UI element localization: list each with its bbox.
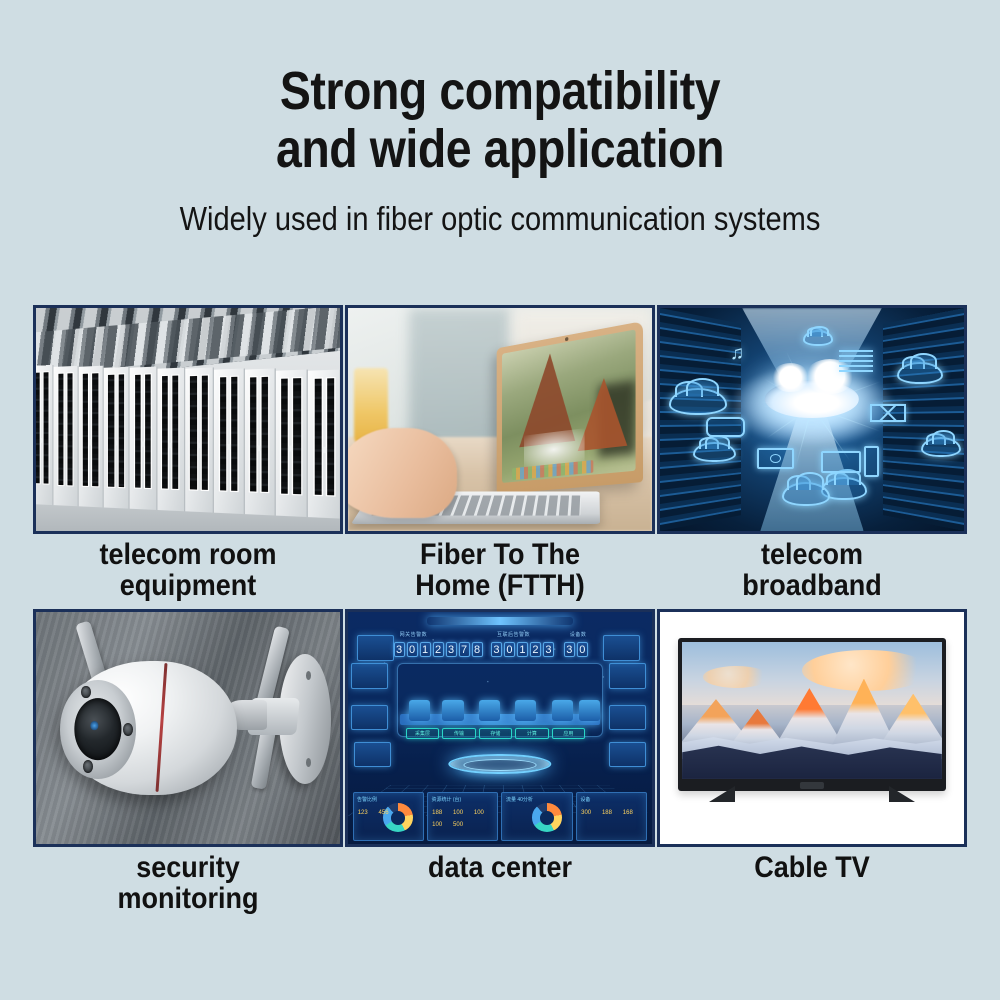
cloud-icon xyxy=(669,388,727,415)
server-rack xyxy=(78,366,103,508)
server-rack xyxy=(244,369,275,516)
counter-digit: 1 xyxy=(420,642,431,657)
counter-digit: 3 xyxy=(446,642,457,657)
security-camera-illustration xyxy=(36,612,340,844)
card-data-center[interactable]: 采集层传输存储计算应用 网关告警数3012378互联后告警数30123设备数30… xyxy=(345,609,655,914)
counter-digits: 3012378 xyxy=(394,642,483,657)
counter-digit: 3 xyxy=(491,642,502,657)
flow-node xyxy=(579,700,600,721)
thumbnail-telecom-broadband: ♫ xyxy=(657,305,967,534)
caption-cable-tv: Cable TV xyxy=(673,852,952,883)
flow-chip: 采集层 xyxy=(406,728,439,739)
side-monitor xyxy=(351,705,387,731)
card-telecom-broadband[interactable]: ♫ telecom broadband xyxy=(657,305,967,601)
counter-digit: 0 xyxy=(407,642,418,657)
counter-label: 互联后告警数 xyxy=(497,631,530,638)
side-monitor xyxy=(609,663,645,689)
counter-digit: 2 xyxy=(530,642,541,657)
panel-stat: 100 xyxy=(432,821,442,829)
counter-digit: 3 xyxy=(564,642,575,657)
counter-digits: 30 xyxy=(564,642,588,657)
camera-lens xyxy=(74,698,121,760)
side-monitor xyxy=(351,663,387,689)
counter-digit: 1 xyxy=(517,642,528,657)
counter-digit: 0 xyxy=(504,642,515,657)
tv-screen xyxy=(682,642,942,779)
thumbnail-fiber-to-the-home xyxy=(345,305,655,534)
counter-digit: 8 xyxy=(472,642,483,657)
server-room-illustration xyxy=(36,308,340,531)
monitor-icon xyxy=(821,451,861,473)
side-monitor xyxy=(609,705,645,731)
counter-digit: 2 xyxy=(433,642,444,657)
caption-security-monitoring: security monitoring xyxy=(49,852,328,914)
counter-digit: 3 xyxy=(543,642,554,657)
cloud-icon xyxy=(803,330,833,346)
thumbnail-cable-tv xyxy=(657,609,967,847)
panel-title: 告警比例 xyxy=(357,796,377,803)
dashboard-panel: 流量 40分析 xyxy=(501,792,572,841)
server-lines-icon xyxy=(839,350,872,372)
panel-stat: 500 xyxy=(453,821,463,829)
counter-label: 设备数 xyxy=(570,631,587,638)
cloud-icon xyxy=(765,380,859,418)
server-rack xyxy=(130,367,157,511)
counter-digit: 3 xyxy=(394,642,405,657)
thumbnail-security-monitoring xyxy=(33,609,343,847)
tv-foot-right xyxy=(889,786,915,802)
application-card-grid: telecom room equipment xyxy=(33,305,967,914)
flow-node xyxy=(515,700,536,721)
server-rack xyxy=(54,365,79,506)
counter-digits: 30123 xyxy=(491,642,554,657)
music-note-icon: ♫ xyxy=(730,344,744,363)
cloud-icon xyxy=(782,482,831,507)
panel-stat: 300 xyxy=(581,809,591,817)
side-monitor xyxy=(603,635,639,661)
laptop-illustration xyxy=(348,308,652,531)
camera-icon xyxy=(757,448,793,468)
page-title-line-2: and wide application xyxy=(70,120,930,178)
server-rack xyxy=(342,370,343,520)
server-rack xyxy=(104,366,130,509)
cloud-network-illustration: ♫ xyxy=(660,308,964,531)
panel-stat: 100 xyxy=(453,809,463,817)
thumbnail-data-center: 采集层传输存储计算应用 网关告警数3012378互联后告警数30123设备数30… xyxy=(345,609,655,847)
flow-chip: 存储 xyxy=(479,728,512,739)
flow-node xyxy=(552,700,573,721)
tv-brand-logo xyxy=(800,782,824,789)
laptop-screen xyxy=(496,321,643,494)
flow-node xyxy=(442,700,463,721)
card-fiber-to-the-home[interactable]: Fiber To The Home (FTTH) xyxy=(345,305,655,601)
panel-stat: 100 xyxy=(474,809,484,817)
card-cable-tv[interactable]: Cable TV xyxy=(657,609,967,914)
page-subtitle: Widely used in fiber optic communication… xyxy=(60,200,940,238)
flow-chip: 传输 xyxy=(442,728,475,739)
flow-chip: 计算 xyxy=(515,728,548,739)
side-monitor xyxy=(354,742,390,768)
flow-node xyxy=(479,700,500,721)
counter-label: 网关告警数 xyxy=(400,631,428,638)
panel-stat: 456 xyxy=(379,809,389,817)
data-center-dashboard-illustration: 采集层传输存储计算应用 网关告警数3012378互联后告警数30123设备数30… xyxy=(348,612,652,844)
thumbnail-telecom-room-equipment xyxy=(33,305,343,534)
server-rack xyxy=(157,367,185,511)
server-rack xyxy=(33,365,54,505)
flow-node xyxy=(409,700,430,721)
card-telecom-room-equipment[interactable]: telecom room equipment xyxy=(33,305,343,601)
server-rack xyxy=(276,369,308,517)
donut-chart xyxy=(383,803,414,832)
cloud-icon xyxy=(921,437,961,457)
counter-digit: 0 xyxy=(577,642,588,657)
camera-lens-housing xyxy=(60,680,136,780)
flow-chip: 应用 xyxy=(552,728,585,739)
caption-data-center: data center xyxy=(361,852,640,883)
panel-stat: 188 xyxy=(602,809,612,817)
panel-title: 流量 40分析 xyxy=(506,796,533,803)
card-security-monitoring[interactable]: security monitoring xyxy=(33,609,343,914)
caption-telecom-room-equipment: telecom room equipment xyxy=(49,539,328,601)
donut-chart xyxy=(532,803,563,832)
caption-fiber-to-the-home: Fiber To The Home (FTTH) xyxy=(361,539,640,601)
cloud-icon xyxy=(693,442,736,462)
panel-title: 资源统计 (台) xyxy=(431,796,461,803)
dashboard-panel: 告警比例123456 xyxy=(353,792,424,841)
panel-stat: 168 xyxy=(623,809,633,817)
server-stack-icon xyxy=(864,446,879,477)
server-rack xyxy=(308,370,342,519)
red-accent-stripe xyxy=(156,663,168,792)
server-rack xyxy=(214,368,244,514)
counter-digit: 7 xyxy=(459,642,470,657)
panel-stat: 188 xyxy=(432,809,442,817)
server-rack xyxy=(185,368,214,513)
cloud-icon xyxy=(897,362,943,384)
tv-foot-left xyxy=(709,786,735,802)
tv-set xyxy=(678,638,946,791)
page-header: Strong compatibility and wide applicatio… xyxy=(0,0,1000,238)
side-monitor xyxy=(357,635,393,661)
caption-telecom-broadband: telecom broadband xyxy=(673,539,952,601)
television-illustration xyxy=(660,612,964,844)
page-title-line-1: Strong compatibility xyxy=(70,62,930,120)
panel-title: 设备 xyxy=(580,796,590,803)
dashboard-panel: 设备300188168 xyxy=(576,792,647,841)
typing-hand xyxy=(345,428,457,517)
side-monitor xyxy=(609,742,645,768)
speech-bubble-icon xyxy=(706,417,746,437)
dashboard-panel: 资源统计 (台)188100100100500 xyxy=(427,792,498,841)
panel-stat: 123 xyxy=(358,809,368,817)
camera-body xyxy=(63,661,236,796)
envelope-icon xyxy=(870,404,906,422)
